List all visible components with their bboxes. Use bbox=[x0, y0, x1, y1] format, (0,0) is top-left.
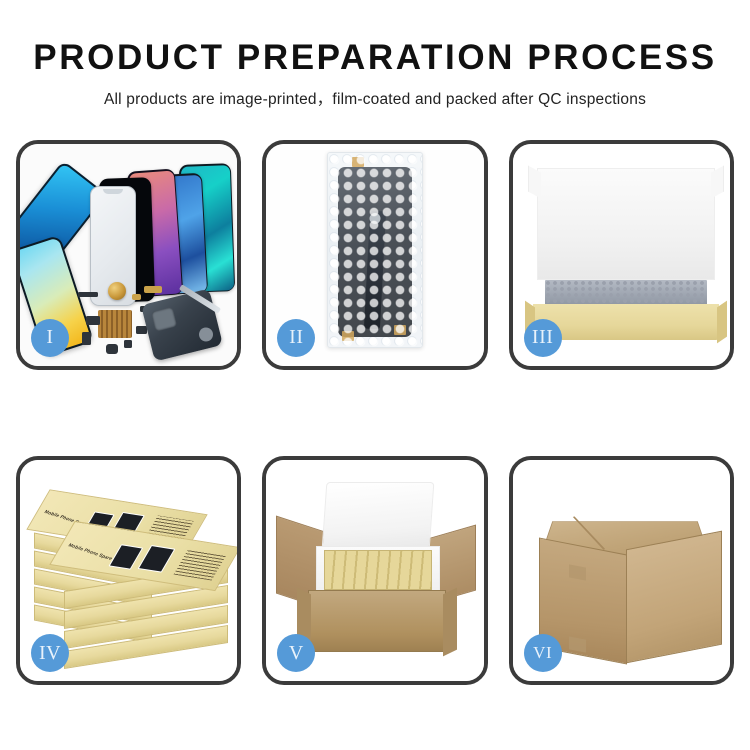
packed-retail-boxes bbox=[324, 550, 432, 590]
spare-part-gold-bracket bbox=[144, 286, 162, 293]
spare-part-chip bbox=[78, 292, 98, 297]
open-box-lid bbox=[537, 168, 715, 280]
page-title: PRODUCT PREPARATION PROCESS bbox=[0, 40, 750, 77]
step-2-illustration: II bbox=[266, 144, 483, 366]
process-step-card-6[interactable]: VI bbox=[509, 456, 734, 686]
tape-strip bbox=[394, 325, 406, 335]
spare-part-chip bbox=[136, 326, 147, 334]
process-step-grid: I II bbox=[16, 140, 734, 685]
tape-strip bbox=[352, 157, 364, 167]
process-step-card-4[interactable]: Mobile Phone Spare Parts Mobile Phone Sp… bbox=[16, 456, 241, 686]
spare-part-chip bbox=[124, 340, 132, 348]
carton-right-face bbox=[626, 530, 722, 663]
process-step-card-5[interactable]: V bbox=[262, 456, 487, 686]
camera-module bbox=[369, 213, 380, 224]
carton-tape-upper bbox=[569, 564, 586, 580]
process-step-card-1[interactable]: I bbox=[16, 140, 241, 370]
step-4-illustration: Mobile Phone Spare Parts Mobile Phone Sp… bbox=[20, 460, 237, 682]
product-preparation-process-page: PRODUCT PREPARATION PROCESS All products… bbox=[0, 0, 750, 750]
process-step-card-2[interactable]: II bbox=[262, 140, 487, 370]
step-badge-6: VI bbox=[524, 634, 562, 672]
spare-part-chip bbox=[82, 332, 91, 345]
carton-tape-lower bbox=[569, 636, 586, 652]
bubble-wrap-package bbox=[327, 152, 423, 348]
spare-part-chip bbox=[106, 344, 118, 354]
phone-back-housing bbox=[141, 288, 223, 361]
step-badge-1: I bbox=[31, 319, 69, 357]
step-6-illustration: VI bbox=[513, 460, 730, 682]
box-window-right bbox=[138, 545, 176, 573]
step-3-illustration: III bbox=[513, 144, 730, 366]
grey-foam-padding bbox=[545, 280, 707, 306]
step-badge-3: III bbox=[524, 319, 562, 357]
spare-part-chip bbox=[86, 316, 100, 325]
page-subtitle: All products are image-printed，film-coat… bbox=[0, 87, 750, 109]
spare-part-gold-bracket bbox=[132, 294, 141, 300]
foam-lid bbox=[322, 482, 435, 550]
step-badge-2: II bbox=[277, 319, 315, 357]
vibration-motor-part bbox=[108, 282, 126, 300]
box-spec-text-lines bbox=[174, 548, 227, 580]
step-1-illustration: I bbox=[20, 144, 237, 366]
process-step-card-3[interactable]: III bbox=[509, 140, 734, 370]
step-badge-5: V bbox=[277, 634, 315, 672]
page-header: PRODUCT PREPARATION PROCESS All products… bbox=[0, 0, 750, 109]
carton-body bbox=[308, 590, 446, 652]
tape-strip bbox=[342, 331, 354, 341]
logic-board-part bbox=[98, 310, 132, 338]
step-5-illustration: V bbox=[266, 460, 483, 682]
step-badge-4: IV bbox=[31, 634, 69, 672]
